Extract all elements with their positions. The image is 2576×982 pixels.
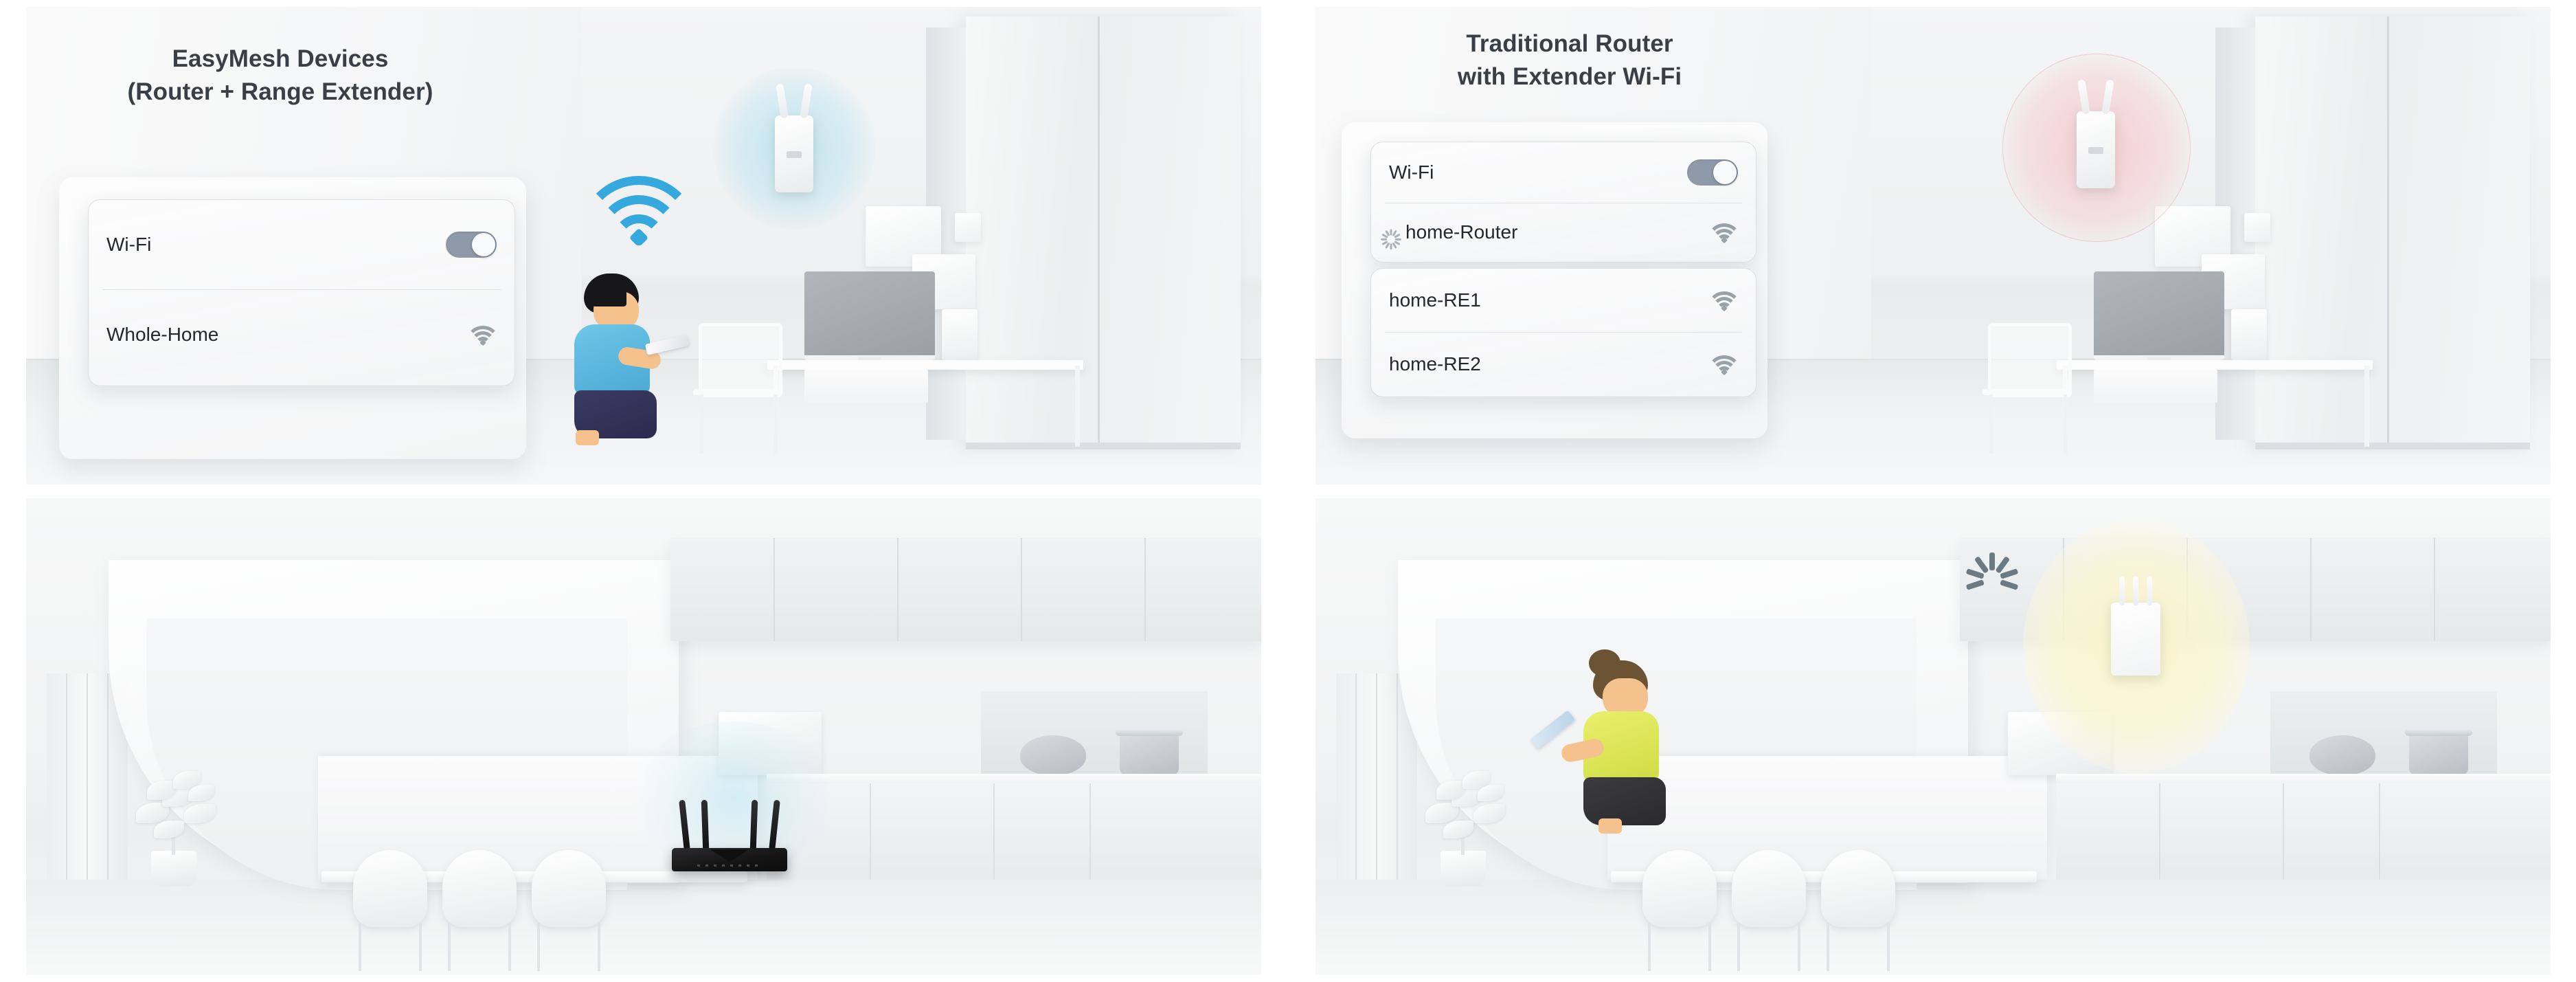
wall-extender-device [2111,603,2160,676]
wardrobe-seam [2387,16,2389,449]
desk-chair [1982,323,2075,454]
card-row-home-re1[interactable]: home-RE1 [1371,269,1756,332]
chair-leg-2 [2064,394,2067,454]
row-label-wifi: Wi-Fi [106,234,151,256]
potted-plant [122,759,225,886]
card-row-home-re2[interactable]: home-RE2 [1371,333,1756,396]
extender-fin-3 [2147,577,2152,605]
chair-leg-2 [774,394,778,454]
floor [26,880,1261,975]
extender-logo [2088,147,2103,154]
wardrobe-kickplate [966,443,1241,449]
dining-chair-1 [349,850,431,970]
row-label-home-re2: home-RE2 [1389,353,1481,375]
comparison-figure: EasyMesh Devices (Router + Range Extende… [0,0,2576,982]
kitchen-lower-cabinets [767,783,1261,880]
wifi-toggle-knob [472,233,495,256]
dining-chair-2 [1728,850,1810,970]
chair-seat [1982,389,2072,395]
chair-leg-1 [700,394,703,454]
traditional-secondary-card: home-RE1 home-RE2 [1370,268,1756,397]
kettle [1020,735,1086,775]
panel-title-line-2: (Router + Range Extender) [67,76,493,109]
wardrobe-seam [1098,16,1100,449]
desk-leg-right [2364,366,2369,447]
panel-title-line-1: Traditional Router [1357,27,1783,60]
kitchen-lower-cabinets [2056,783,2551,880]
person-leg [1598,818,1622,834]
desk-speaker [2231,309,2267,360]
row-label-home-router: home-Router [1381,221,1517,243]
wifi-signal-graphic [584,170,694,246]
desk-monitor [2094,271,2224,360]
wifi-signal-icon [1710,222,1738,243]
cooking-pot [1120,734,1179,775]
desk-apron [2094,370,2217,403]
wardrobe-kickplate [2255,443,2530,449]
wifi-signal-icon [469,324,497,345]
desk-monitor [804,271,935,360]
black-router-device [672,840,787,871]
wifi-toggle[interactable] [1687,159,1738,186]
person-leg [576,430,599,445]
person-hair-front [585,282,626,306]
wall-shelf-3 [955,213,981,242]
chair-seat [693,389,782,395]
panel-title-line-2: with Extender Wi-Fi [1357,60,1783,93]
panel-title-line-1: EasyMesh Devices [67,43,493,76]
cooking-pot [2409,734,2468,775]
card-row-home-router[interactable]: home-Router [1371,203,1756,261]
extender-fin-2 [2133,577,2138,605]
range-extender-device [775,115,813,192]
kitchen-upper-cabinets [670,538,1261,641]
row-label-wifi: Wi-Fi [1389,161,1434,183]
wardrobe-cabinet [966,16,1241,449]
dining-chair-1 [1638,850,1721,970]
panel-title-easymesh: EasyMesh Devices (Router + Range Extende… [67,43,493,108]
wifi-signal-icon [1710,354,1738,375]
extender-logo [787,151,802,158]
extender-fin-1 [2119,577,2125,605]
row-label-whole-home: Whole-Home [106,324,218,346]
range-extender-device [2077,111,2115,188]
spinner-icon [1381,222,1401,243]
card-row-wifi[interactable]: Wi-Fi [1371,142,1756,203]
router-body [672,848,787,871]
person-boy-with-tablet [569,274,672,445]
desk-leg-right [1075,366,1080,447]
panel-easymesh-bottom [26,498,1261,975]
dining-chair-3 [528,850,610,970]
chair-back [1988,323,2072,397]
floor [1315,880,2551,975]
plant-pot [1440,851,1486,886]
wardrobe-cabinet [2255,16,2530,449]
card-row-wifi[interactable]: Wi-Fi [89,200,515,289]
frustration-burst-icon [1954,533,2030,608]
kettle [2309,735,2375,775]
desk-top [2057,360,2373,370]
chair-leg-1 [1989,394,1993,454]
potted-plant [1412,759,1515,886]
panel-traditional-top: Traditional Router with Extender Wi-Fi W… [1315,7,2551,484]
router-antenna-3 [750,800,758,851]
panel-title-traditional: Traditional Router with Extender Wi-Fi [1357,27,1783,93]
wall-shelf-3 [2244,213,2270,242]
desk-chair [693,323,786,454]
desk-speaker [942,309,978,360]
wifi-toggle[interactable] [446,232,497,258]
chair-back [699,323,782,397]
row-label-home-re1: home-RE1 [1389,289,1481,311]
network-name-home-router: home-Router [1405,221,1517,243]
dining-chair-2 [438,850,521,970]
desk-top [767,360,1083,370]
panel-traditional-bottom [1315,498,2551,975]
router-led-strip [697,864,762,867]
plant-pot [151,851,196,886]
traditional-primary-card: Wi-Fi [1370,142,1756,263]
desk-apron [804,370,928,403]
person-skirt [1583,777,1666,825]
card-row-network[interactable]: Whole-Home [89,290,515,379]
wifi-signal-icon [1710,290,1738,311]
dining-chair-3 [1817,850,1899,970]
person-girl-with-tablet [1578,660,1681,832]
person-hair-bun [1589,649,1620,677]
router-notch [710,849,749,862]
panel-easymesh-top: EasyMesh Devices (Router + Range Extende… [26,7,1261,484]
easymesh-wifi-card: Wi-Fi Whole-Home [88,199,515,386]
wifi-toggle-knob [1713,161,1737,184]
